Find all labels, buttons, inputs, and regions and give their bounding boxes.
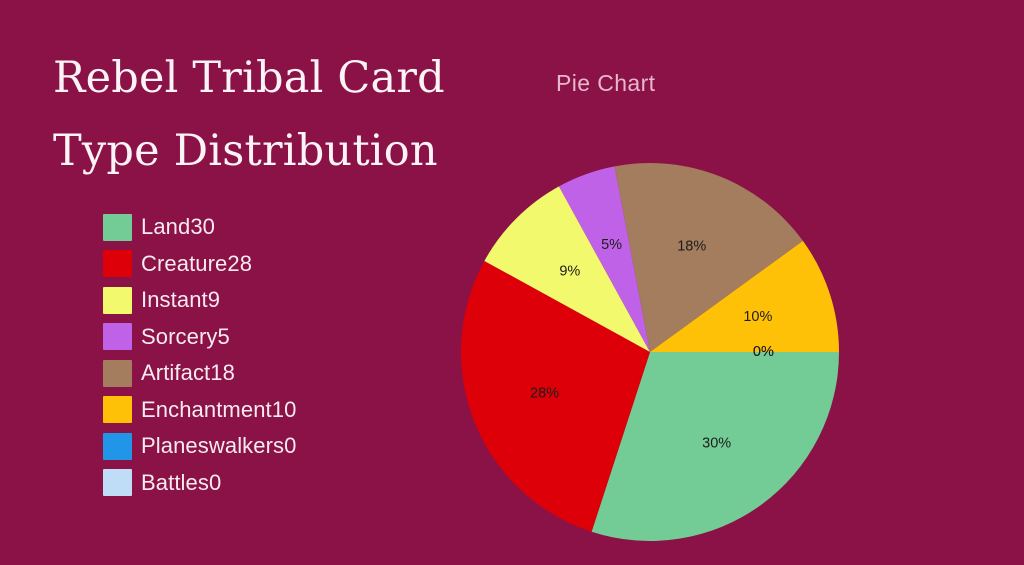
pie-slice-label: 30% [702, 436, 731, 452]
pie-slice[interactable] [461, 261, 650, 532]
pie-slice-label: 5% [601, 237, 622, 253]
pie-slice-group [461, 163, 839, 541]
legend-item-value: 28 [227, 251, 252, 277]
legend-item-label: Creature [141, 251, 227, 277]
page-title-line-2: Type Distribution [53, 115, 503, 188]
pie-slice[interactable] [484, 186, 650, 352]
legend-swatch-icon [103, 287, 132, 314]
pie-label-group: 30%28%9%5%18%10%0%0% [530, 237, 774, 451]
legend-item-value: 0 [209, 470, 221, 496]
pie-slice[interactable] [592, 352, 839, 541]
chart-heading: Pie Chart [556, 70, 655, 97]
legend-swatch-icon [103, 433, 132, 460]
slide-canvas: Rebel Tribal Card Type Distribution Pie … [0, 0, 1024, 565]
legend-item-label: Battles [141, 470, 209, 496]
legend-item-label: Land [141, 214, 190, 240]
legend-item[interactable]: Instant9 [103, 282, 296, 319]
legend-swatch-icon [103, 360, 132, 387]
legend-item-value: 30 [190, 214, 215, 240]
legend-item-label: Artifact [141, 360, 210, 386]
legend-item[interactable]: Sorcery5 [103, 319, 296, 356]
legend-swatch-icon [103, 396, 132, 423]
legend-item[interactable]: Battles0 [103, 465, 296, 502]
legend-item[interactable]: Land30 [103, 209, 296, 246]
legend-item-label: Instant [141, 287, 208, 313]
page-title: Rebel Tribal Card Type Distribution [53, 42, 503, 188]
legend-item[interactable]: Enchantment10 [103, 392, 296, 429]
legend-swatch-icon [103, 214, 132, 241]
legend-item-value: 10 [272, 397, 297, 423]
pie-slice-label: 18% [677, 238, 706, 254]
pie-slice-label: 28% [530, 386, 559, 402]
pie-slice-label: 0% [753, 344, 774, 360]
chart-legend: Land30Creature28Instant9Sorcery5Artifact… [103, 209, 296, 501]
legend-item[interactable]: Creature28 [103, 246, 296, 283]
pie-slice[interactable] [559, 166, 650, 352]
legend-item-label: Enchantment [141, 397, 272, 423]
legend-item[interactable]: Planeswalkers0 [103, 428, 296, 465]
legend-item[interactable]: Artifact18 [103, 355, 296, 392]
legend-swatch-icon [103, 469, 132, 496]
legend-item-value: 9 [208, 287, 220, 313]
page-title-line-1: Rebel Tribal Card [53, 42, 503, 115]
pie-slice[interactable] [615, 163, 803, 352]
legend-item-value: 5 [218, 324, 230, 350]
pie-slice-label: 10% [743, 309, 772, 325]
legend-item-label: Sorcery [141, 324, 218, 350]
legend-item-value: 18 [210, 360, 235, 386]
legend-swatch-icon [103, 250, 132, 277]
pie-slice-label: 0% [753, 344, 774, 360]
pie-slice[interactable] [650, 241, 839, 352]
legend-item-value: 0 [284, 433, 296, 459]
legend-swatch-icon [103, 323, 132, 350]
pie-slice-label: 9% [559, 264, 580, 280]
legend-item-label: Planeswalkers [141, 433, 284, 459]
